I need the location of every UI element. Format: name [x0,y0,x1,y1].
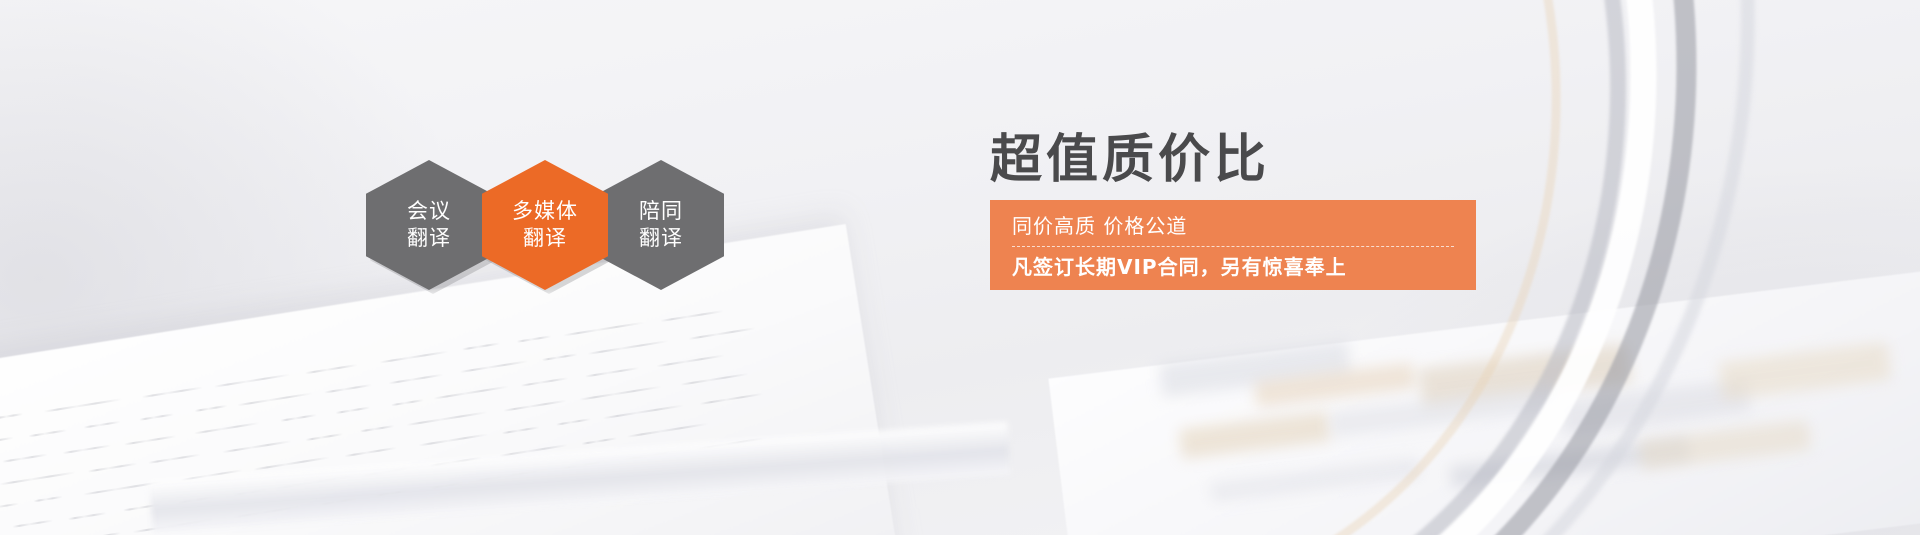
promo-line-vip-contract: 凡签订长期VIP合同，另有惊喜奉上 [1012,250,1454,284]
promo-box: 同价高质 价格公道 凡签订长期VIP合同，另有惊喜奉上 [990,200,1476,290]
promo-line-quality: 同价高质 价格公道 [1012,209,1454,243]
magazine-photo-texture [0,0,1920,535]
hexagon-label-line1: 陪同 [639,198,683,225]
hexagon-escort-interpreting[interactable]: 陪同 翻译 [598,160,724,290]
hexagon-label-line2: 翻译 [407,225,451,252]
promo-banner: 陪同 翻译 会议 翻译 多媒体 翻译 超值质价比 同价高质 价格公道 凡签订长期… [0,0,1920,535]
hexagon-label-line2: 翻译 [523,225,567,252]
banner-headline: 超值质价比 [990,131,1270,191]
promo-divider [1012,246,1454,247]
hexagon-label-line2: 翻译 [639,225,683,252]
hexagon-label-line1: 多媒体 [512,198,578,225]
hexagon-label-line1: 会议 [407,198,451,225]
service-hexagon-group: 陪同 翻译 会议 翻译 多媒体 翻译 [366,160,726,290]
